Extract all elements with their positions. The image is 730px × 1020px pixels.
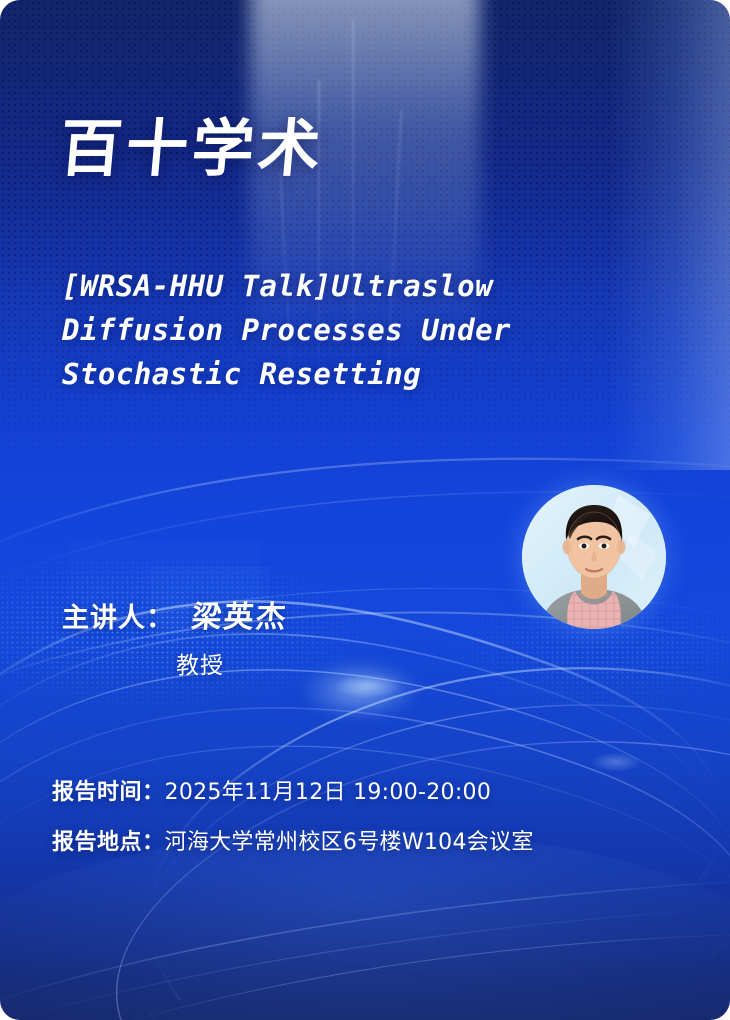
event-time-value: 2025年11月12日 19:00-20:00 (165, 780, 492, 805)
seminar-poster: 百十学术 [WRSA-HHU Talk]Ultraslow Diffusion … (0, 0, 730, 1020)
speaker-avatar (522, 485, 666, 629)
event-location-row: 报告地点：河海大学常州校区6号楼W104会议室 (52, 832, 692, 854)
event-time-label: 报告时间： (52, 780, 165, 805)
event-details: 报告时间：2025年11月12日 19:00-20:00 报告地点：河海大学常州… (52, 782, 692, 882)
right-edge-sheen (610, 0, 730, 470)
talk-title: [WRSA-HHU Talk]Ultraslow Diffusion Proce… (62, 264, 672, 396)
portrait-photo (522, 485, 666, 629)
speaker-academic-title: 教授 (176, 646, 224, 680)
glow-accent (300, 660, 420, 720)
event-location-label: 报告地点： (52, 830, 165, 855)
speaker-name: 梁英杰 (190, 592, 291, 636)
beam-cone (115, 0, 615, 520)
speaker-label: 主讲人： (62, 596, 174, 635)
event-location-value: 河海大学常州校区6号楼W104会议室 (165, 830, 534, 855)
page-title: 百十学术 (57, 118, 326, 180)
spotlight-beam (0, 0, 730, 520)
speaker-row: 主讲人： 梁英杰 (62, 592, 288, 636)
event-time-row: 报告时间：2025年11月12日 19:00-20:00 (52, 782, 692, 804)
